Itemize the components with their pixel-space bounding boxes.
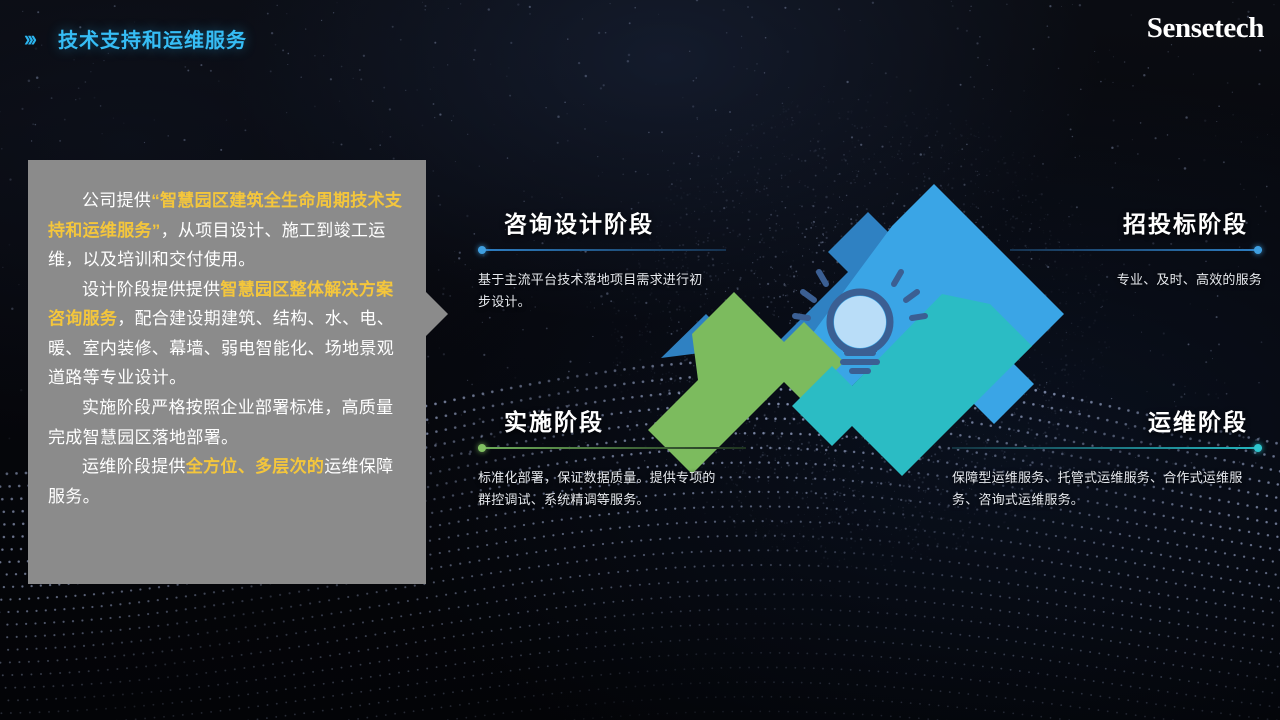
description-panel: 公司提供“智慧园区建筑全生命周期技术支持和运维服务”，从项目设计、施工到竣工运维… <box>28 160 426 584</box>
body-text: 实施阶段严格按照企业部署标准，高质量完成智慧园区落地部署。 <box>48 398 393 447</box>
page-title: 技术支持和运维服务 <box>58 24 247 53</box>
stage-rule-consult <box>478 248 726 251</box>
stage-rule-impl <box>478 446 746 449</box>
body-text: 公司提供 <box>82 191 151 210</box>
stage-block-consult: 咨询设计阶段 基于主流平台技术落地项目需求进行初步设计。 <box>478 205 726 314</box>
rule-dot <box>478 444 486 452</box>
stage-desc-consult: 基于主流平台技术落地项目需求进行初步设计。 <box>478 269 710 314</box>
description-paragraph: 公司提供“智慧园区建筑全生命周期技术支持和运维服务”，从项目设计、施工到竣工运维… <box>48 186 404 275</box>
rule-dot <box>1254 444 1262 452</box>
body-text: 设计阶段提供提供 <box>82 280 220 299</box>
stage-desc-ops: 保障型运维服务、托管式运维服务、合作式运维服务、咨询式运维服务。 <box>952 467 1262 512</box>
description-text: 公司提供“智慧园区建筑全生命周期技术支持和运维服务”，从项目设计、施工到竣工运维… <box>28 160 426 511</box>
stage-title-bid: 招投标阶段 <box>1010 205 1262 239</box>
rule-bar <box>478 447 746 449</box>
rule-bar <box>1010 249 1262 251</box>
rule-dot <box>1254 246 1262 254</box>
stage-block-impl: 实施阶段 标准化部署，保证数据质量。提供专项的群控调试、系统精调等服务。 <box>478 403 746 512</box>
rule-bar <box>478 249 726 251</box>
stage-rule-ops <box>952 446 1262 449</box>
stage-title-ops: 运维阶段 <box>952 403 1262 437</box>
stage-block-bid: 招投标阶段 专业、及时、高效的服务 <box>1010 205 1262 291</box>
panel-pointer-triangle <box>426 292 448 336</box>
description-paragraph: 运维阶段提供全方位、多层次的运维保障服务。 <box>48 452 404 511</box>
brand-logo: Sensetech <box>1147 12 1264 45</box>
stage-rule-bid <box>1010 248 1262 251</box>
rule-bar <box>952 447 1262 449</box>
stage-desc-bid: 专业、及时、高效的服务 <box>1010 269 1262 291</box>
rule-dot <box>478 246 486 254</box>
description-paragraph: 设计阶段提供提供智慧园区整体解决方案咨询服务，配合建设期建筑、结构、水、电、暖、… <box>48 275 404 393</box>
stage-title-consult: 咨询设计阶段 <box>478 205 726 239</box>
slide-header: ››› 技术支持和运维服务 Sensetech <box>0 0 1280 62</box>
chevron-right-icon: ››› <box>24 29 34 51</box>
body-text: 运维阶段提供 <box>82 457 186 476</box>
description-paragraph: 实施阶段严格按照企业部署标准，高质量完成智慧园区落地部署。 <box>48 393 404 452</box>
highlighted-text: 全方位、多层次的 <box>186 457 324 476</box>
stage-title-impl: 实施阶段 <box>478 403 746 437</box>
stage-desc-impl: 标准化部署，保证数据质量。提供专项的群控调试、系统精调等服务。 <box>478 467 722 512</box>
stage-block-ops: 运维阶段 保障型运维服务、托管式运维服务、合作式运维服务、咨询式运维服务。 <box>952 403 1262 512</box>
